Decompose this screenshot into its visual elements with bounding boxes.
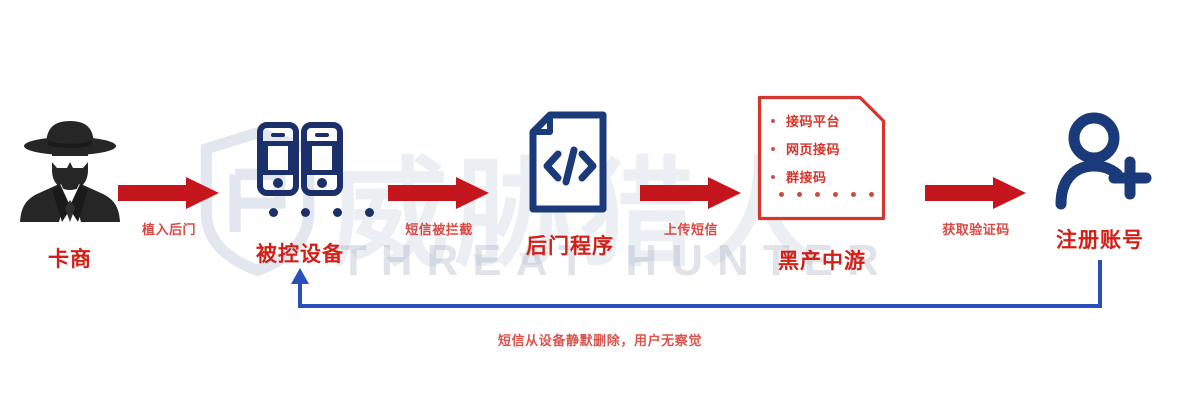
red-arrow-icon xyxy=(925,176,1027,210)
arrow-label-upload-sms: 上传短信 xyxy=(640,219,742,238)
two-phones-icon xyxy=(245,122,355,202)
code-file-icon xyxy=(525,110,615,214)
arrow-sms-intercepted xyxy=(388,176,490,215)
red-arrow-icon xyxy=(118,176,220,210)
spy-icon xyxy=(15,118,125,226)
list-item-label: 群接码 xyxy=(786,167,827,186)
arrow-implant-backdoor xyxy=(118,176,220,215)
list-item-label: 网页接码 xyxy=(786,139,840,158)
feedback-path-arrow xyxy=(0,250,1200,330)
user-plus-icon xyxy=(1044,112,1156,212)
red-arrow-icon xyxy=(388,176,490,210)
red-arrow-icon xyxy=(640,176,742,210)
arrow-upload-sms xyxy=(640,176,742,215)
bullet-icon xyxy=(771,119,775,123)
feedback-caption: 短信从设备静默删除，用户无察觉 xyxy=(0,330,1200,349)
device-count-dots xyxy=(269,208,374,217)
list-item: 群接码 xyxy=(771,167,827,186)
arrow-get-verification-code xyxy=(925,176,1027,215)
bullet-icon xyxy=(771,147,775,151)
node-controlled-device: 被控设备 xyxy=(240,122,360,268)
black-market-item-list: 接码平台 网页接码 群接码 xyxy=(757,95,886,221)
list-item-label: 接码平台 xyxy=(786,111,840,130)
bullet-icon xyxy=(771,175,775,179)
arrow-label-get-verification-code: 获取验证码 xyxy=(919,219,1033,238)
node-black-market-midstream-box: 接码平台 网页接码 群接码 xyxy=(757,95,886,221)
list-more-dots xyxy=(779,192,874,197)
diagram-canvas: 威胁猎人 THREAT HUNTER 卡商 xyxy=(0,0,1200,420)
list-item: 网页接码 xyxy=(771,139,840,158)
node-backdoor-program: 后门程序 xyxy=(510,110,630,260)
arrow-label-implant-backdoor: 植入后门 xyxy=(118,219,220,238)
node-register-account: 注册账号 xyxy=(1040,112,1160,254)
arrow-label-sms-intercepted: 短信被拦截 xyxy=(382,219,496,238)
list-item: 接码平台 xyxy=(771,111,840,130)
